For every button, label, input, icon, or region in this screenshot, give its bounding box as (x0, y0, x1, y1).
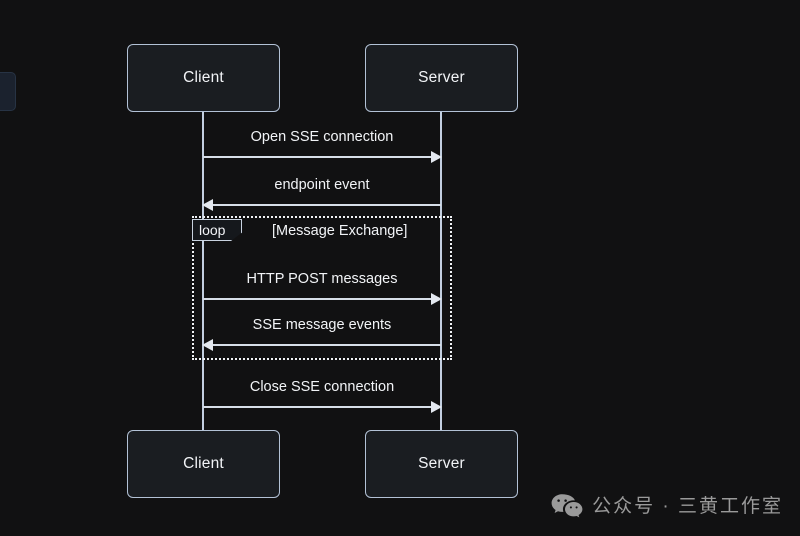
message-label-close-sse-connection: Close SSE connection (203, 380, 441, 395)
message-label-sse-message-events: SSE message events (203, 318, 441, 333)
participant-box-server-bottom[interactable]: Server (365, 430, 518, 498)
message-open-sse-connection[interactable]: Open SSE connection (203, 130, 441, 174)
message-arrow-line-close-sse-connection (203, 406, 441, 408)
message-arrow-line-sse-message-events (203, 344, 441, 346)
message-arrow-line-endpoint-event (203, 204, 441, 206)
message-close-sse-connection[interactable]: Close SSE connection (203, 380, 441, 424)
watermark: 公众号 · 三黄工作室 (551, 493, 783, 519)
diagram-canvas: Client Server loop [Message Exchange] Op… (0, 0, 800, 536)
loop-fragment-condition: [Message Exchange] (272, 224, 407, 239)
message-label-endpoint-event: endpoint event (203, 178, 441, 193)
left-edge-panel-artifact (0, 72, 16, 111)
participant-label-client-top: Client (183, 70, 224, 86)
message-arrow-line-http-post-messages (203, 298, 441, 300)
message-label-open-sse-connection: Open SSE connection (203, 130, 441, 145)
message-arrowhead-left-sse-message-events (202, 339, 213, 351)
message-endpoint-event[interactable]: endpoint event (203, 178, 441, 222)
participant-box-client-bottom[interactable]: Client (127, 430, 280, 498)
watermark-text: 公众号 · 三黄工作室 (592, 497, 783, 516)
wechat-icon (551, 493, 583, 519)
message-arrowhead-right-http-post-messages (431, 293, 442, 305)
message-label-http-post-messages: HTTP POST messages (203, 272, 441, 287)
message-arrowhead-right-close-sse-connection (431, 401, 442, 413)
message-arrowhead-right-open-sse-connection (431, 151, 442, 163)
participant-box-server-top[interactable]: Server (365, 44, 518, 112)
participant-label-server-bottom: Server (418, 456, 465, 472)
participant-box-client-top[interactable]: Client (127, 44, 280, 112)
message-sse-message-events[interactable]: SSE message events (203, 318, 441, 362)
participant-label-client-bottom: Client (183, 456, 224, 472)
loop-fragment-tag: loop (192, 219, 242, 241)
participant-label-server-top: Server (418, 70, 465, 86)
message-arrow-line-open-sse-connection (203, 156, 441, 158)
loop-fragment-tag-label: loop (193, 223, 225, 237)
message-http-post-messages[interactable]: HTTP POST messages (203, 272, 441, 316)
message-arrowhead-left-endpoint-event (202, 199, 213, 211)
